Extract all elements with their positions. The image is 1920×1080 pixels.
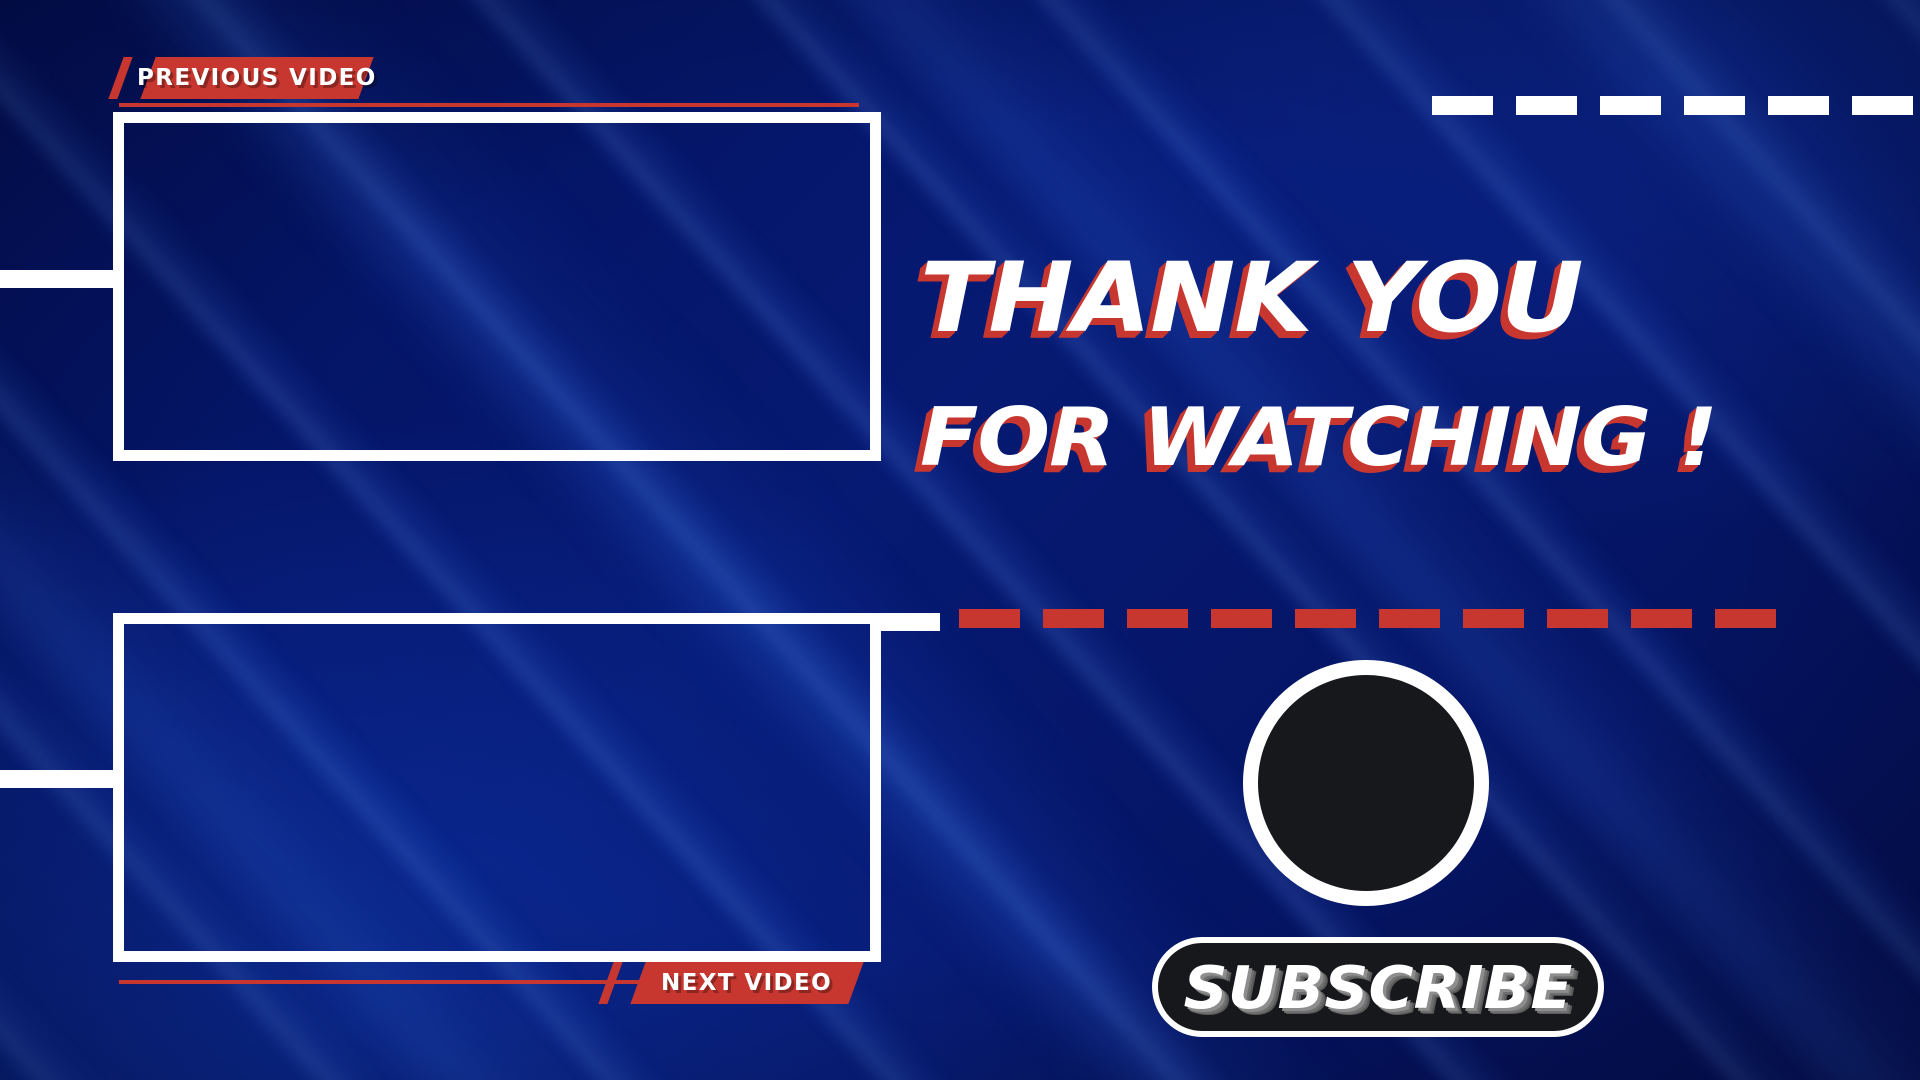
red-dashed-line [959,609,1776,628]
red-dash-segment [1211,609,1272,628]
next-video-tag: NEXT VIDEO [630,962,863,1004]
white-dash-segment [1684,96,1745,115]
red-dash-segment [1715,609,1776,628]
headline-line-1: THANK YOU [920,250,1874,346]
white-dash-segment [1852,96,1913,115]
previous-video-tag: PREVIOUS VIDEO [140,57,373,99]
red-dash-segment [1379,609,1440,628]
next-video-tag-label: NEXT VIDEO [661,970,832,996]
next-video-right-connector [870,613,940,631]
channel-avatar-placeholder[interactable] [1243,660,1489,906]
next-video-thumbnail-slot[interactable] [113,613,881,962]
headline-block: THANK YOU FOR WATCHING ! [920,250,1820,478]
white-dash-segment [1516,96,1577,115]
red-dash-segment [959,609,1020,628]
white-dash-segment [1432,96,1493,115]
white-dash-segment [1600,96,1661,115]
headline-line-2: FOR WATCHING ! [920,398,1883,478]
previous-video-left-connector [0,270,120,288]
next-video-left-connector [0,770,120,788]
red-dash-segment [1043,609,1104,628]
subscribe-button[interactable]: SUBSCRIBE [1152,937,1604,1037]
red-dash-segment [1547,609,1608,628]
previous-video-thumbnail-slot[interactable] [113,112,881,461]
end-screen-canvas: PREVIOUS VIDEO NEXT VIDEO THANK YOU FOR … [0,0,1920,1080]
subscribe-button-label: SUBSCRIBE [1184,953,1573,1022]
previous-video-accent-rule [119,103,859,107]
white-dash-segment [1768,96,1829,115]
red-dash-segment [1463,609,1524,628]
red-dash-segment [1295,609,1356,628]
red-dash-segment [1631,609,1692,628]
white-dashed-line [1432,96,1920,115]
red-dash-segment [1127,609,1188,628]
previous-video-tag-label: PREVIOUS VIDEO [137,65,377,91]
